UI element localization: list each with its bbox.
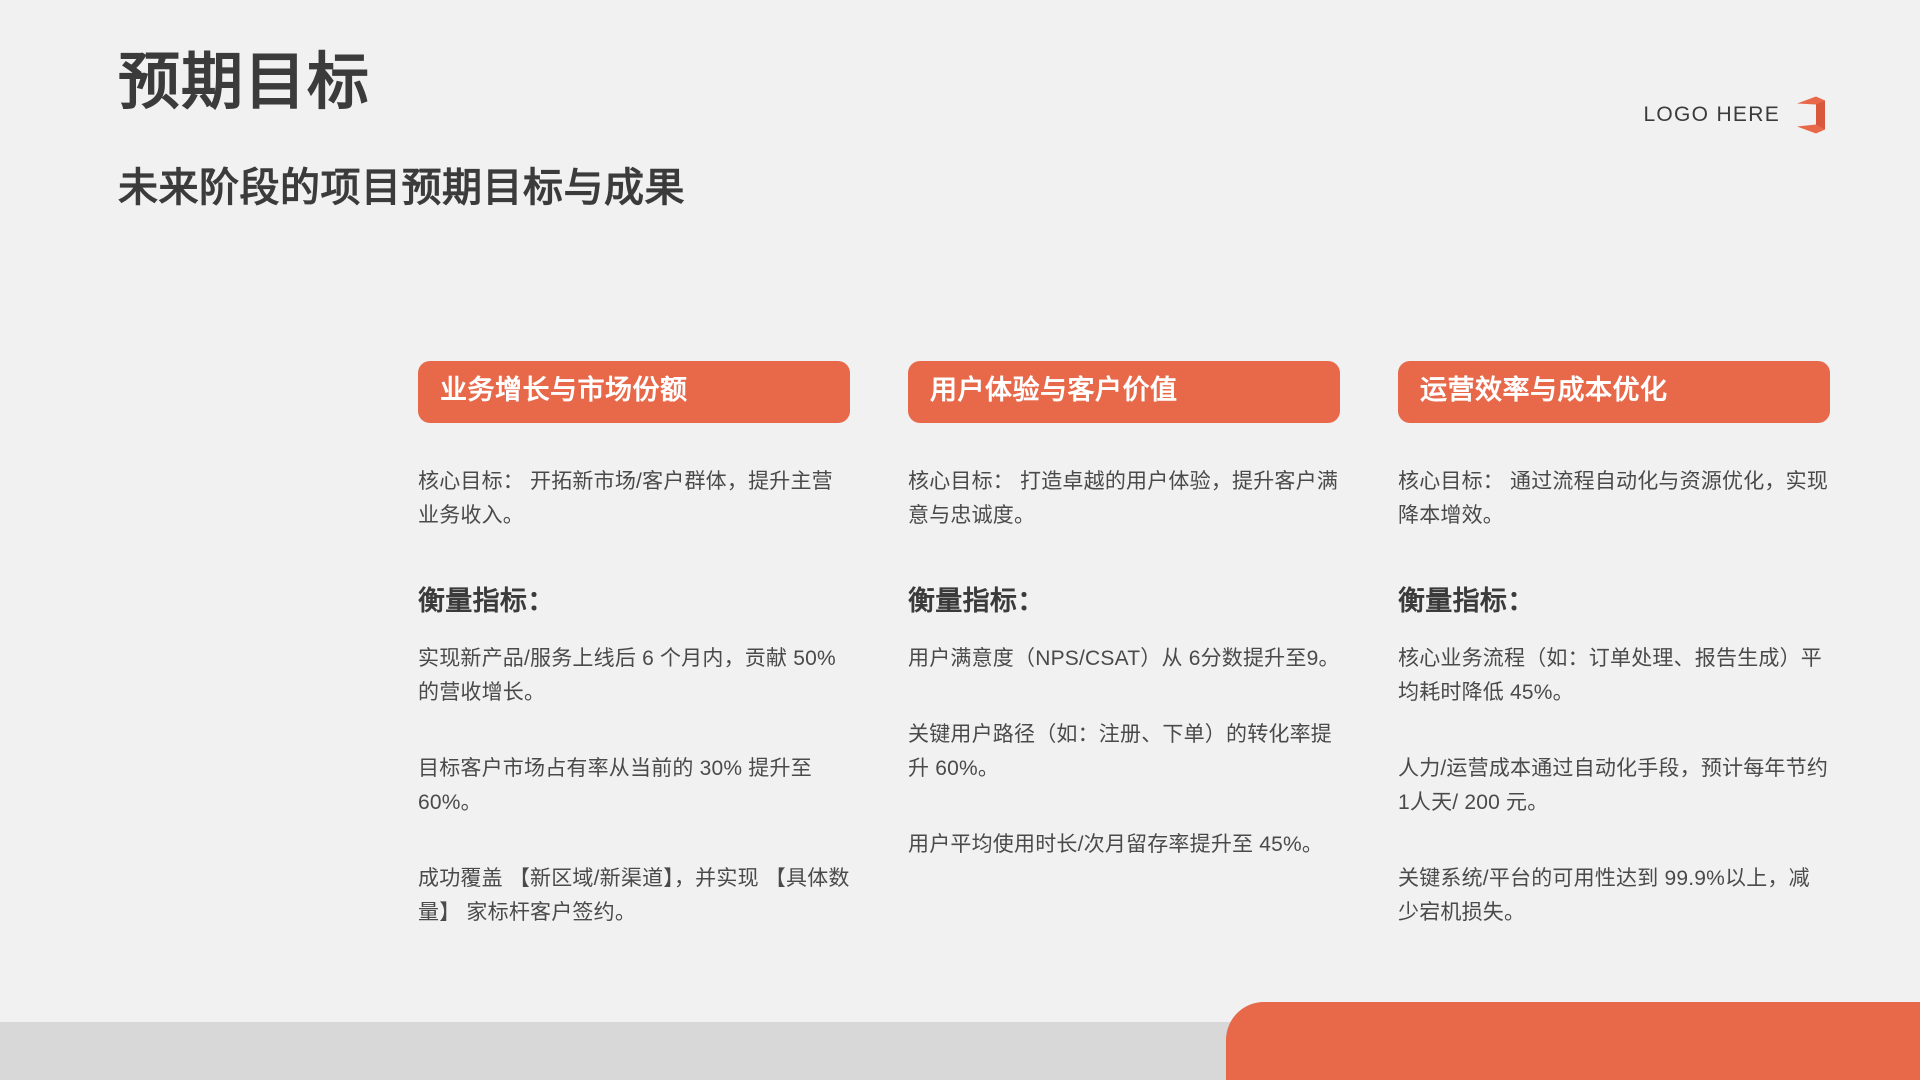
metric-item: 核心业务流程（如：订单处理、报告生成）平均耗时降低 45%。 — [1398, 642, 1830, 710]
column-metrics-title: 衡量指标： — [418, 579, 850, 618]
column-header-pill: 用户体验与客户价值 — [908, 361, 1340, 423]
column-core-goal: 核心目标： 通过流程自动化与资源优化，实现降本增效。 — [1398, 465, 1830, 533]
metric-item: 成功覆盖 【新区域/新渠道】，并实现 【具体数量】 家标杆客户签约。 — [418, 862, 850, 930]
metric-item: 实现新产品/服务上线后 6 个月内，贡献 50% 的营收增长。 — [418, 642, 850, 710]
column-header-pill: 运营效率与成本优化 — [1398, 361, 1830, 423]
column-pill-label: 运营效率与成本优化 — [1420, 376, 1668, 406]
page-title: 预期目标 — [118, 48, 1818, 117]
column-pill-label: 用户体验与客户价值 — [930, 376, 1178, 406]
logo-text: LOGO HERE — [1643, 103, 1780, 127]
slide-root: 预期目标 未来阶段的项目预期目标与成果 LOGO HERE 业务增长与市场份额 … — [0, 0, 1920, 1080]
metric-item: 关键系统/平台的可用性达到 99.9%以上，减少宕机损失。 — [1398, 862, 1830, 930]
column-metrics-title: 衡量指标： — [1398, 579, 1830, 618]
columns-container: 业务增长与市场份额 核心目标： 开拓新市场/客户群体，提升主营业务收入。 衡量指… — [418, 361, 1830, 930]
metric-item: 关键用户路径（如：注册、下单）的转化率提升 60%。 — [908, 718, 1340, 786]
office-logo-icon — [1794, 95, 1828, 135]
column-metrics-list: 核心业务流程（如：订单处理、报告生成）平均耗时降低 45%。 人力/运营成本通过… — [1398, 642, 1830, 930]
column-header-pill: 业务增长与市场份额 — [418, 361, 850, 423]
column-metrics-title: 衡量指标： — [908, 579, 1340, 618]
slide-header: 预期目标 未来阶段的项目预期目标与成果 — [118, 48, 1818, 213]
bottom-orange-accent — [1226, 1002, 1920, 1080]
column-core-goal: 核心目标： 开拓新市场/客户群体，提升主营业务收入。 — [418, 465, 850, 533]
page-subtitle: 未来阶段的项目预期目标与成果 — [118, 117, 1818, 213]
metric-item: 用户平均使用时长/次月留存率提升至 45%。 — [908, 828, 1340, 862]
column-metrics-list: 用户满意度（NPS/CSAT）从 6分数提升至9。 关键用户路径（如：注册、下单… — [908, 642, 1340, 862]
logo-area: LOGO HERE — [1643, 95, 1828, 135]
metric-item: 人力/运营成本通过自动化手段，预计每年节约 1人天/ 200 元。 — [1398, 752, 1830, 820]
column-operational-efficiency: 运营效率与成本优化 核心目标： 通过流程自动化与资源优化，实现降本增效。 衡量指… — [1398, 361, 1830, 930]
metric-item: 目标客户市场占有率从当前的 30% 提升至 60%。 — [418, 752, 850, 820]
column-business-growth: 业务增长与市场份额 核心目标： 开拓新市场/客户群体，提升主营业务收入。 衡量指… — [418, 361, 850, 930]
column-pill-label: 业务增长与市场份额 — [440, 376, 688, 406]
column-metrics-list: 实现新产品/服务上线后 6 个月内，贡献 50% 的营收增长。 目标客户市场占有… — [418, 642, 850, 930]
column-user-experience: 用户体验与客户价值 核心目标： 打造卓越的用户体验，提升客户满意与忠诚度。 衡量… — [908, 361, 1340, 930]
metric-item: 用户满意度（NPS/CSAT）从 6分数提升至9。 — [908, 642, 1340, 676]
column-core-goal: 核心目标： 打造卓越的用户体验，提升客户满意与忠诚度。 — [908, 465, 1340, 533]
